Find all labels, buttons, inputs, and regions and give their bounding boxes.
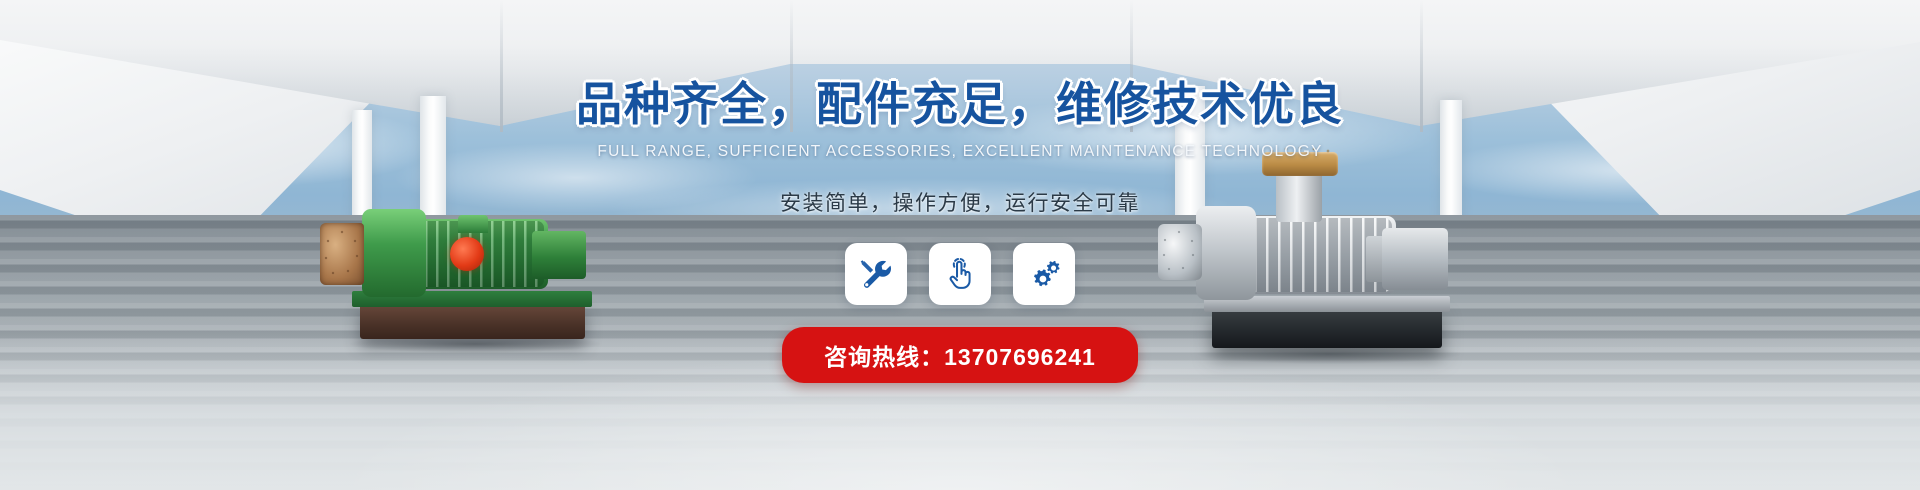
feature-tile-gears[interactable] — [1013, 243, 1075, 305]
feature-tile-tools[interactable] — [845, 243, 907, 305]
feature-icon-row — [845, 243, 1075, 305]
tools-icon — [859, 257, 893, 291]
hotline-button[interactable]: 咨询热线：13707696241 — [782, 327, 1138, 383]
hand-tap-icon — [943, 257, 977, 291]
banner-subtitle-english: FULL RANGE, SUFFICIENT ACCESSORIES, EXCE… — [597, 143, 1322, 161]
feature-tile-operation[interactable] — [929, 243, 991, 305]
promo-banner: 品种齐全，配件充足，维修技术优良 FULL RANGE, SUFFICIENT … — [0, 0, 1920, 490]
banner-subtitle-chinese: 安装简单，操作方便，运行安全可靠 — [780, 187, 1140, 217]
banner-content: 品种齐全，配件充足，维修技术优良 FULL RANGE, SUFFICIENT … — [0, 0, 1920, 490]
gears-icon — [1027, 257, 1061, 291]
banner-headline: 品种齐全，配件充足，维修技术优良 — [576, 68, 1344, 134]
